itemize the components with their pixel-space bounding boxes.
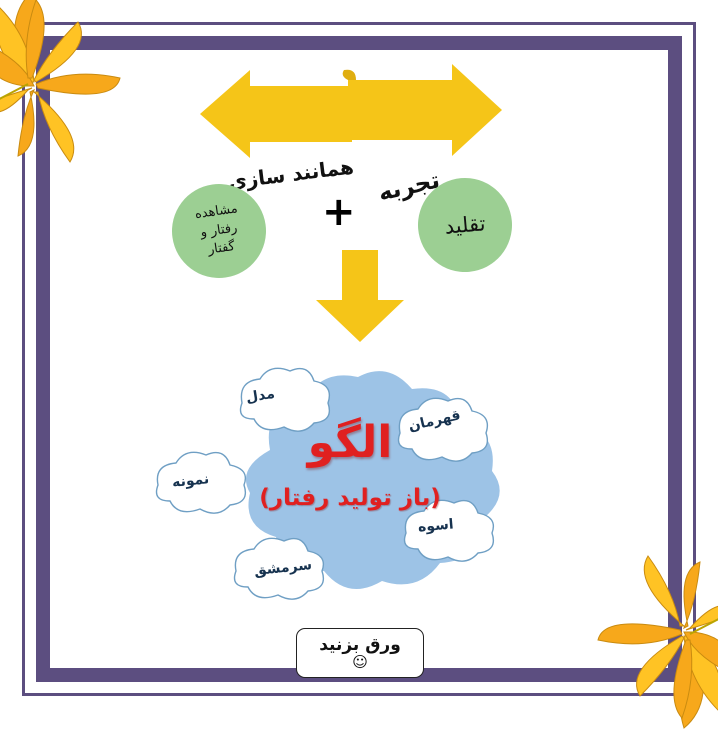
arrow-down-icon — [312, 250, 408, 346]
satellite-cloud-sample — [157, 452, 246, 513]
arrow-left-icon — [200, 68, 355, 158]
circle-imitation-label: تقلید — [443, 208, 486, 242]
plus-operator: + — [322, 192, 356, 232]
turn-page-button[interactable]: ورق بزنید ☺ — [296, 628, 424, 678]
turn-page-label: ورق بزنید — [319, 637, 401, 654]
satellite-cloud-model — [241, 368, 330, 431]
smiley-face-icon: ☺ — [352, 655, 368, 670]
arrow-right-icon — [343, 64, 502, 156]
arrow-pair-group: همانند سازی تجربه — [0, 62, 718, 174]
slide-canvas: همانند سازی تجربه مشاهده رفتار و گفتار +… — [0, 0, 718, 718]
cloud-diagram: الگو (باز تولید رفتار) مدل قهرمان نمونه … — [150, 355, 550, 620]
